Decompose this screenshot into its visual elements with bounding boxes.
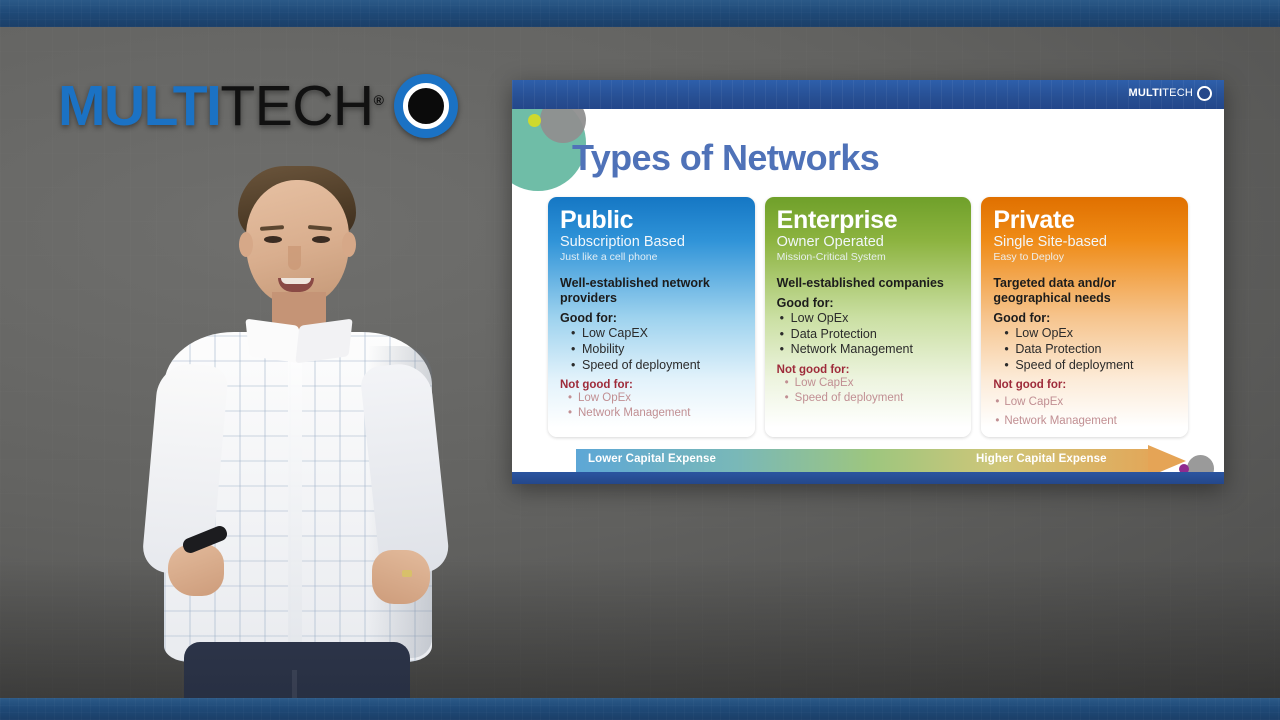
- slide-header-bar: [512, 80, 1224, 109]
- wordmark-multi: MULTI: [58, 74, 220, 138]
- list-item: Speed of deployment: [993, 358, 1176, 374]
- presenter-ear-right: [342, 232, 356, 257]
- list-item: Low CapEx: [777, 376, 960, 391]
- slide-title: Types of Networks: [572, 137, 879, 179]
- card-public-bad-list: Low OpEx Network Management: [560, 391, 743, 421]
- card-public-subtitle: Subscription Based: [560, 235, 743, 251]
- list-item: Speed of deployment: [777, 391, 960, 406]
- presenter-hand-right: [372, 550, 430, 604]
- card-public[interactable]: Public Subscription Based Just like a ce…: [548, 197, 755, 437]
- list-item: Network Management: [777, 342, 960, 358]
- list-item: Speed of deployment: [560, 358, 743, 374]
- letterbox-band-bottom: [0, 698, 1280, 720]
- presenter-shirt-placket: [288, 340, 302, 658]
- capital-expense-scale: Lower Capital Expense Higher Capital Exp…: [576, 449, 1186, 472]
- slide-multitech-logo: MULTITECH: [1128, 86, 1212, 101]
- card-enterprise-title: Enterprise: [777, 207, 960, 233]
- card-private-bad-heading: Not good for:: [993, 379, 1176, 391]
- card-public-lead: Well-established network providers: [560, 276, 743, 307]
- letterbox-band-top: [0, 0, 1280, 27]
- card-public-bad-heading: Not good for:: [560, 379, 743, 391]
- list-item: Network Management: [993, 414, 1176, 429]
- video-frame: MULTITECH®: [0, 0, 1280, 720]
- card-enterprise-bad-heading: Not good for:: [777, 364, 960, 376]
- presenter-person: [120, 150, 470, 698]
- list-item: Data Protection: [777, 327, 960, 343]
- slide-logo-multi: MULTI: [1128, 87, 1162, 99]
- card-private-tagline: Easy to Deploy: [993, 252, 1176, 264]
- card-private-good-list: Low OpEx Data Protection Speed of deploy…: [993, 326, 1176, 373]
- multitech-ring-icon: [394, 74, 458, 138]
- slide-footer-bar: [512, 472, 1224, 484]
- card-public-title: Public: [560, 207, 743, 233]
- card-public-good-list: Low CapEX Mobility Speed of deployment: [560, 326, 743, 373]
- slide-content-area: Types of Networks Public Subscription Ba…: [512, 109, 1224, 472]
- card-enterprise-bad-list: Low CapEx Speed of deployment: [777, 376, 960, 406]
- scale-label-lower: Lower Capital Expense: [588, 453, 716, 465]
- card-enterprise-subtitle: Owner Operated: [777, 235, 960, 251]
- card-enterprise-good-list: Low OpEx Data Protection Network Managem…: [777, 311, 960, 358]
- presenter-collar-left: [245, 319, 302, 364]
- card-public-good-heading: Good for:: [560, 311, 743, 325]
- presenter-collar-right: [295, 319, 352, 364]
- card-private-title: Private: [993, 207, 1176, 233]
- registered-mark: ®: [374, 92, 383, 108]
- presenter-teeth: [281, 278, 311, 284]
- card-private-good-heading: Good for:: [993, 311, 1176, 325]
- card-private-bad-list: Low CapEx Network Management: [993, 395, 1176, 429]
- list-item: Network Management: [560, 406, 743, 421]
- card-private-lead: Targeted data and/or geographical needs: [993, 276, 1176, 307]
- card-private-subtitle: Single Site-based: [993, 235, 1176, 251]
- card-enterprise-lead: Well-established companies: [777, 276, 960, 291]
- card-enterprise[interactable]: Enterprise Owner Operated Mission-Critic…: [765, 197, 972, 437]
- presenter-eye-left: [264, 236, 282, 243]
- presenter-ear-left: [239, 232, 253, 257]
- presenter-wedding-ring: [402, 570, 412, 577]
- decorative-yellow-dot: [528, 114, 541, 127]
- slide-logo-wordmark: MULTITECH: [1128, 88, 1193, 99]
- card-enterprise-good-heading: Good for:: [777, 296, 960, 310]
- slide-logo-ring-icon: [1197, 86, 1212, 101]
- card-public-tagline: Just like a cell phone: [560, 252, 743, 264]
- decorative-gray-circle-corner: [1187, 455, 1214, 472]
- network-type-cards: Public Subscription Based Just like a ce…: [548, 197, 1188, 437]
- card-private[interactable]: Private Single Site-based Easy to Deploy…: [981, 197, 1188, 437]
- decorative-purple-dot: [1179, 464, 1189, 472]
- multitech-logo: MULTITECH®: [58, 74, 458, 138]
- slide-logo-tech: TECH: [1162, 87, 1193, 99]
- ring-inner-dot: [403, 83, 449, 129]
- presenter-nose: [288, 246, 301, 270]
- presenter-eye-right: [312, 236, 330, 243]
- list-item: Low OpEx: [993, 326, 1176, 342]
- multitech-wordmark: MULTITECH®: [58, 78, 382, 135]
- list-item: Low CapEx: [993, 395, 1176, 410]
- presenter-hand-left: [168, 544, 224, 596]
- card-enterprise-tagline: Mission-Critical System: [777, 252, 960, 264]
- list-item: Low OpEx: [560, 391, 743, 406]
- list-item: Mobility: [560, 342, 743, 358]
- list-item: Low CapEX: [560, 326, 743, 342]
- list-item: Data Protection: [993, 342, 1176, 358]
- presentation-slide[interactable]: MULTITECH Types of Networks Public Subsc…: [512, 80, 1224, 484]
- list-item: Low OpEx: [777, 311, 960, 327]
- wordmark-tech: TECH: [220, 74, 373, 138]
- scale-label-higher: Higher Capital Expense: [976, 453, 1107, 465]
